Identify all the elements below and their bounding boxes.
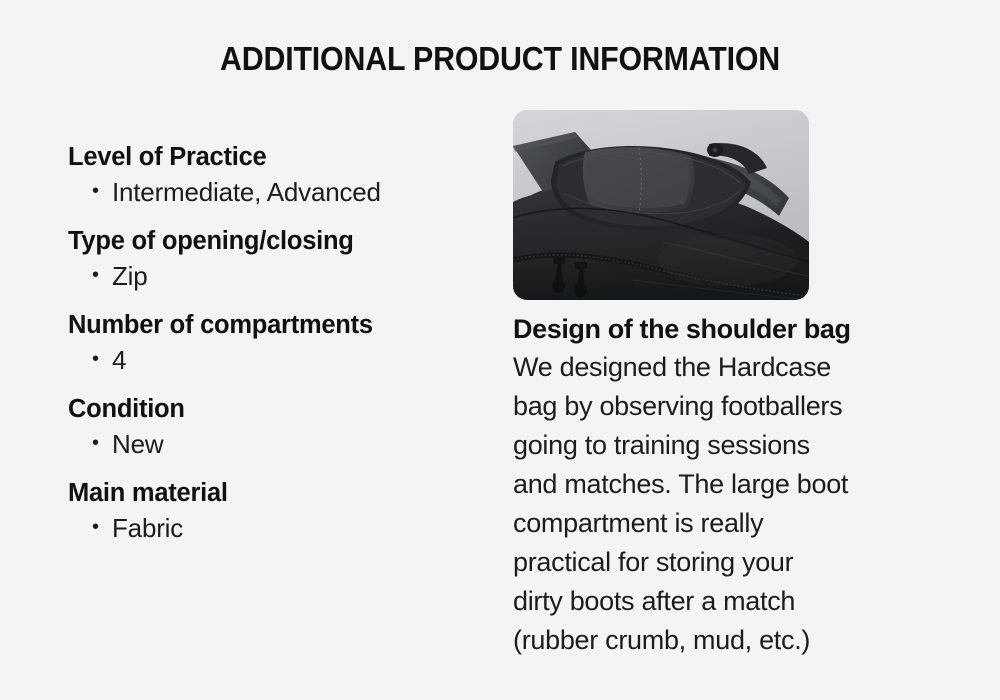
spec-group-main-material: Main material Fabric xyxy=(68,477,498,547)
spec-value-item: Zip xyxy=(92,257,498,295)
spec-value-list: Zip xyxy=(68,257,498,295)
spec-group-condition: Condition New xyxy=(68,393,498,463)
design-body-line: (rubber crumb, mud, etc.) xyxy=(513,621,988,660)
spec-value-list: Intermediate, Advanced xyxy=(68,173,498,211)
spec-label: Number of compartments xyxy=(68,309,498,341)
design-body-line: bag by observing footballers xyxy=(513,387,988,426)
spec-label: Level of Practice xyxy=(68,141,498,173)
spec-value-list: Fabric xyxy=(68,509,498,547)
spec-value-item: Fabric xyxy=(92,509,498,547)
spec-value-item: New xyxy=(92,425,498,463)
design-column: Design of the shoulder bag We designed t… xyxy=(513,110,988,660)
spec-label: Type of opening/closing xyxy=(68,225,498,257)
specification-list: Level of Practice Intermediate, Advanced… xyxy=(68,141,498,561)
spec-group-type-of-opening-closing: Type of opening/closing Zip xyxy=(68,225,498,295)
spec-label: Condition xyxy=(68,393,498,425)
product-information-page: ADDITIONAL PRODUCT INFORMATION Level of … xyxy=(0,0,1000,700)
spec-value-list: 4 xyxy=(68,341,498,379)
design-body-line: dirty boots after a match xyxy=(513,582,988,621)
spec-group-level-of-practice: Level of Practice Intermediate, Advanced xyxy=(68,141,498,211)
page-title: ADDITIONAL PRODUCT INFORMATION xyxy=(40,40,960,78)
spec-value-item: Intermediate, Advanced xyxy=(92,173,498,211)
spec-group-number-of-compartments: Number of compartments 4 xyxy=(68,309,498,379)
product-photo-illustration xyxy=(513,110,809,300)
spec-value-list: New xyxy=(68,425,498,463)
design-body-line: We designed the Hardcase xyxy=(513,348,988,387)
spec-label: Main material xyxy=(68,477,498,509)
design-body-line: practical for storing your xyxy=(513,543,988,582)
design-body-line: and matches. The large boot xyxy=(513,465,988,504)
design-section-heading: Design of the shoulder bag xyxy=(513,312,988,346)
design-body-line: going to training sessions xyxy=(513,426,988,465)
spec-value-item: 4 xyxy=(92,341,498,379)
design-section-body: We designed the Hardcase bag by observin… xyxy=(513,348,988,660)
design-body-line: compartment is really xyxy=(513,504,988,543)
product-photo xyxy=(513,110,809,300)
